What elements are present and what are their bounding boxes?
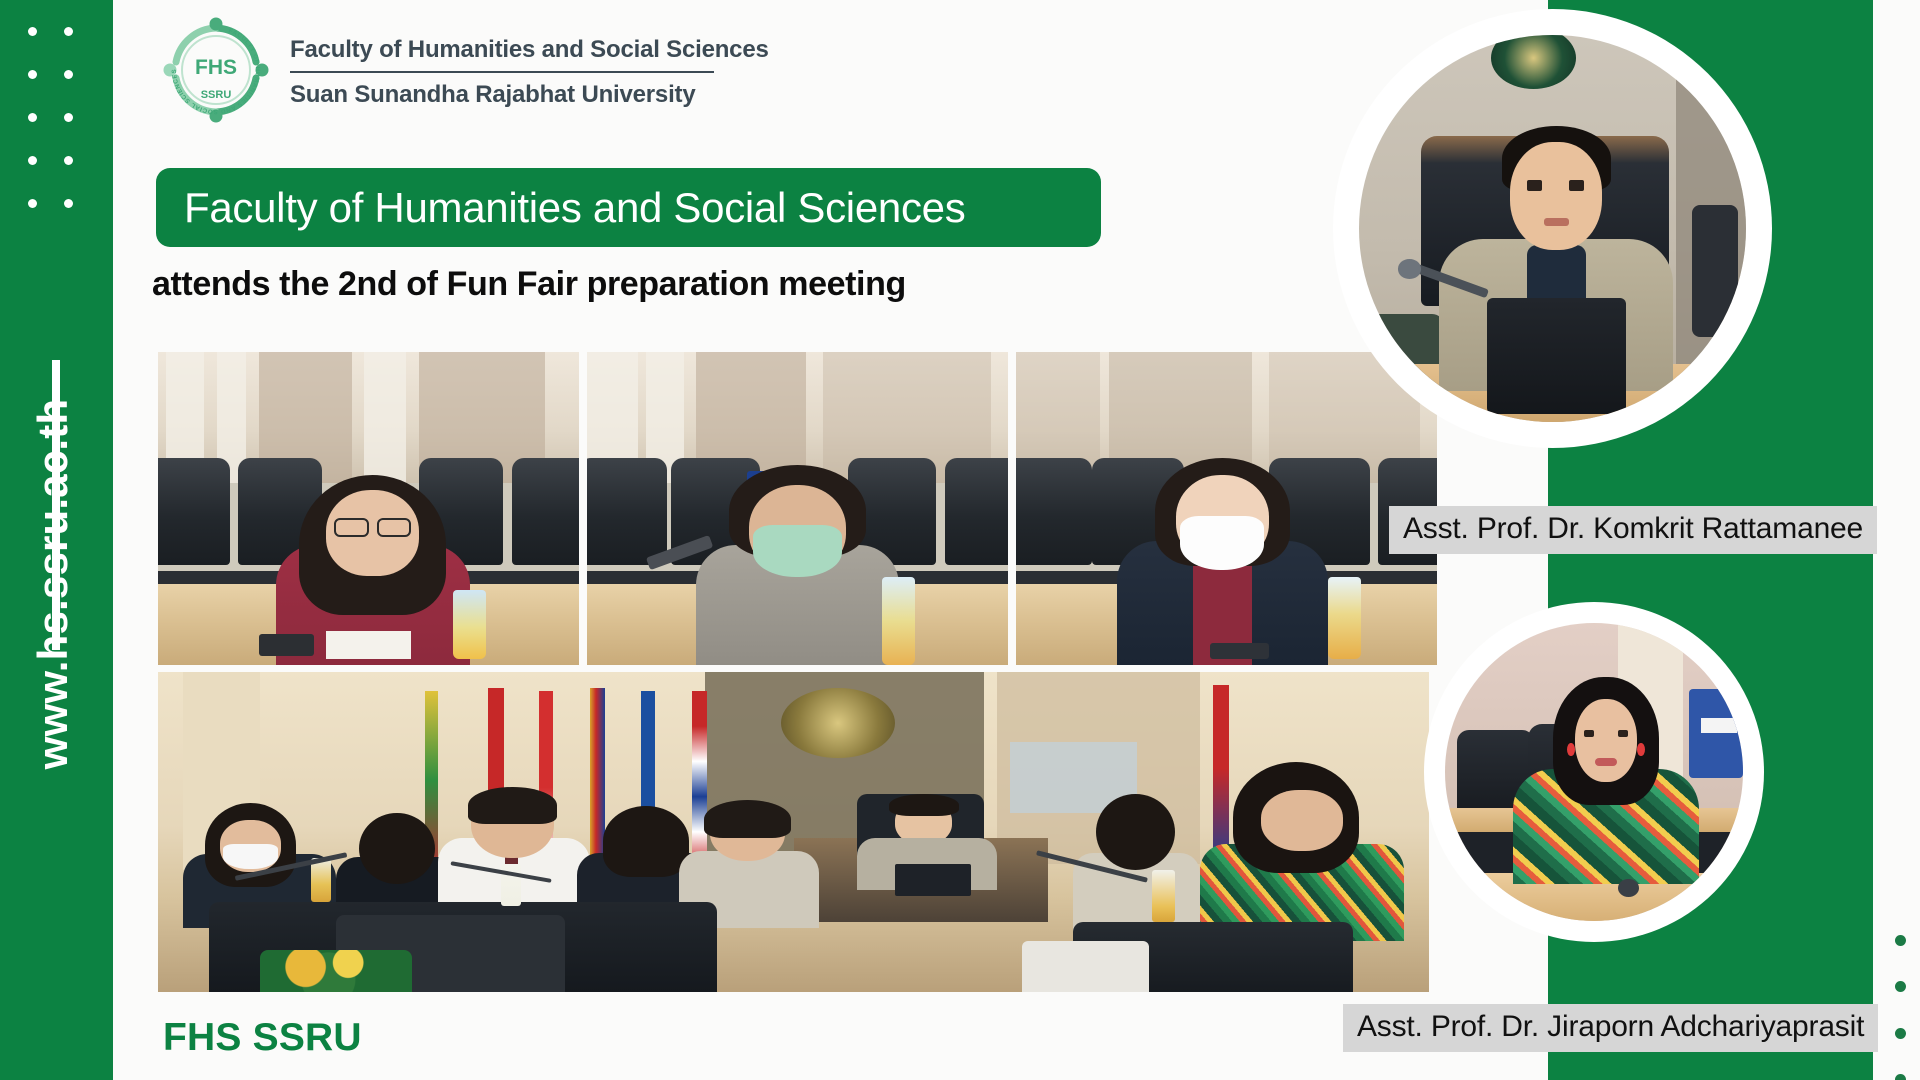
dot (64, 156, 73, 165)
collage-top-row (158, 352, 1437, 665)
dot (64, 113, 73, 122)
dot (64, 27, 73, 36)
collage-photo-1 (158, 352, 579, 665)
portrait-card-jiraporn (1424, 602, 1764, 942)
portrait-photo-komkrit (1359, 35, 1746, 422)
portrait-photo-jiraporn (1445, 623, 1743, 921)
right-dot-column (1893, 935, 1907, 1080)
website-url-vertical: www.hs.ssru.ac.th (29, 249, 77, 919)
dot (1895, 1028, 1906, 1039)
nametag-jiraporn: Asst. Prof. Dr. Jiraporn Adchariyaprasit (1343, 1004, 1878, 1052)
dot (1895, 981, 1906, 992)
dot (28, 156, 37, 165)
dot (28, 27, 37, 36)
banner-title-text: Faculty of Humanities and Social Science… (156, 184, 965, 232)
dot (28, 70, 37, 79)
left-dot-grid (14, 10, 86, 225)
collage-photo-2 (587, 352, 1008, 665)
header-divider (290, 71, 714, 73)
photo-collage (158, 352, 1437, 992)
dot (28, 113, 37, 122)
page-header: FACULTY OF HUMANITIES AND SOCIAL SCIENCE… (160, 14, 769, 126)
dot (1895, 935, 1906, 946)
portrait-card-komkrit (1333, 9, 1772, 448)
dot (1895, 1074, 1906, 1080)
title-banner: Faculty of Humanities and Social Science… (156, 168, 1101, 247)
subtitle-text: attends the 2nd of Fun Fair preparation … (152, 265, 906, 304)
nametag-komkrit: Asst. Prof. Dr. Komkrit Rattamanee (1389, 506, 1877, 554)
collage-photo-4-wide (158, 672, 1429, 992)
poster-canvas: www.hs.ssru.ac.th (0, 0, 1920, 1080)
footer-brand-text: FHS SSRU (163, 1016, 362, 1060)
fhs-ssru-logo-icon: FACULTY OF HUMANITIES AND SOCIAL SCIENCE… (160, 14, 272, 126)
svg-text:FHS: FHS (195, 56, 237, 79)
header-faculty-name: Faculty of Humanities and Social Science… (290, 36, 769, 71)
header-university-name: Suan Sunandha Rajabhat University (290, 81, 769, 109)
left-green-rail: www.hs.ssru.ac.th (0, 0, 113, 1080)
header-title-block: Faculty of Humanities and Social Science… (290, 32, 769, 109)
dot (28, 199, 37, 208)
dot (64, 199, 73, 208)
dot (64, 70, 73, 79)
svg-text:SSRU: SSRU (201, 89, 232, 101)
